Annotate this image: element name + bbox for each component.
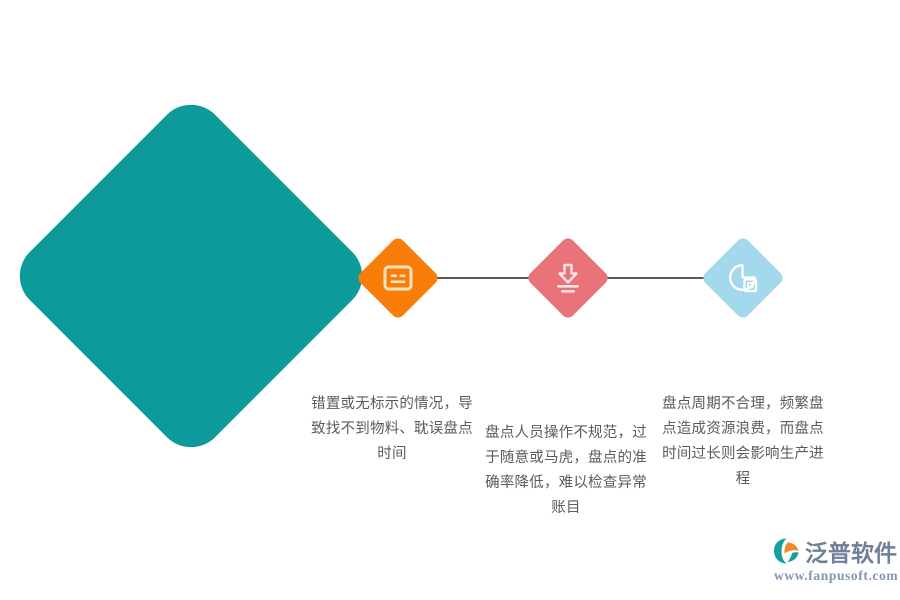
label-issue-node[interactable] <box>356 236 441 321</box>
diagram-canvas: 错置或无标示的情况，导致找不到物料、耽误盘点时间 盘点人员操作不规范，过于随意或… <box>0 0 900 600</box>
brand-name: 泛普软件 <box>805 534 897 568</box>
caption-cycle-issue: 盘点周期不合理，频繁盘点造成资源浪费，而盘点时间过长则会影响生产进程 <box>655 392 831 492</box>
brand-url: www.fanpusoft.com <box>772 568 894 584</box>
caption-label-issue: 错置或无标示的情况，导致找不到物料、耽误盘点时间 <box>306 392 478 467</box>
cycle-issue-node[interactable] <box>701 236 786 321</box>
brand-watermark: 泛普软件 www.fanpusoft.com <box>772 533 894 585</box>
pie-chart-icon <box>727 262 759 294</box>
caption-accuracy-issue: 盘点人员操作不规范，过于随意或马虎，盘点的准确率降低，难以检查异常账目 <box>480 421 652 521</box>
form-card-icon <box>383 265 413 291</box>
brand-row: 泛普软件 <box>772 535 894 567</box>
accuracy-issue-node[interactable] <box>526 236 611 321</box>
download-icon <box>553 262 583 294</box>
fanpu-logo-icon <box>772 536 802 566</box>
